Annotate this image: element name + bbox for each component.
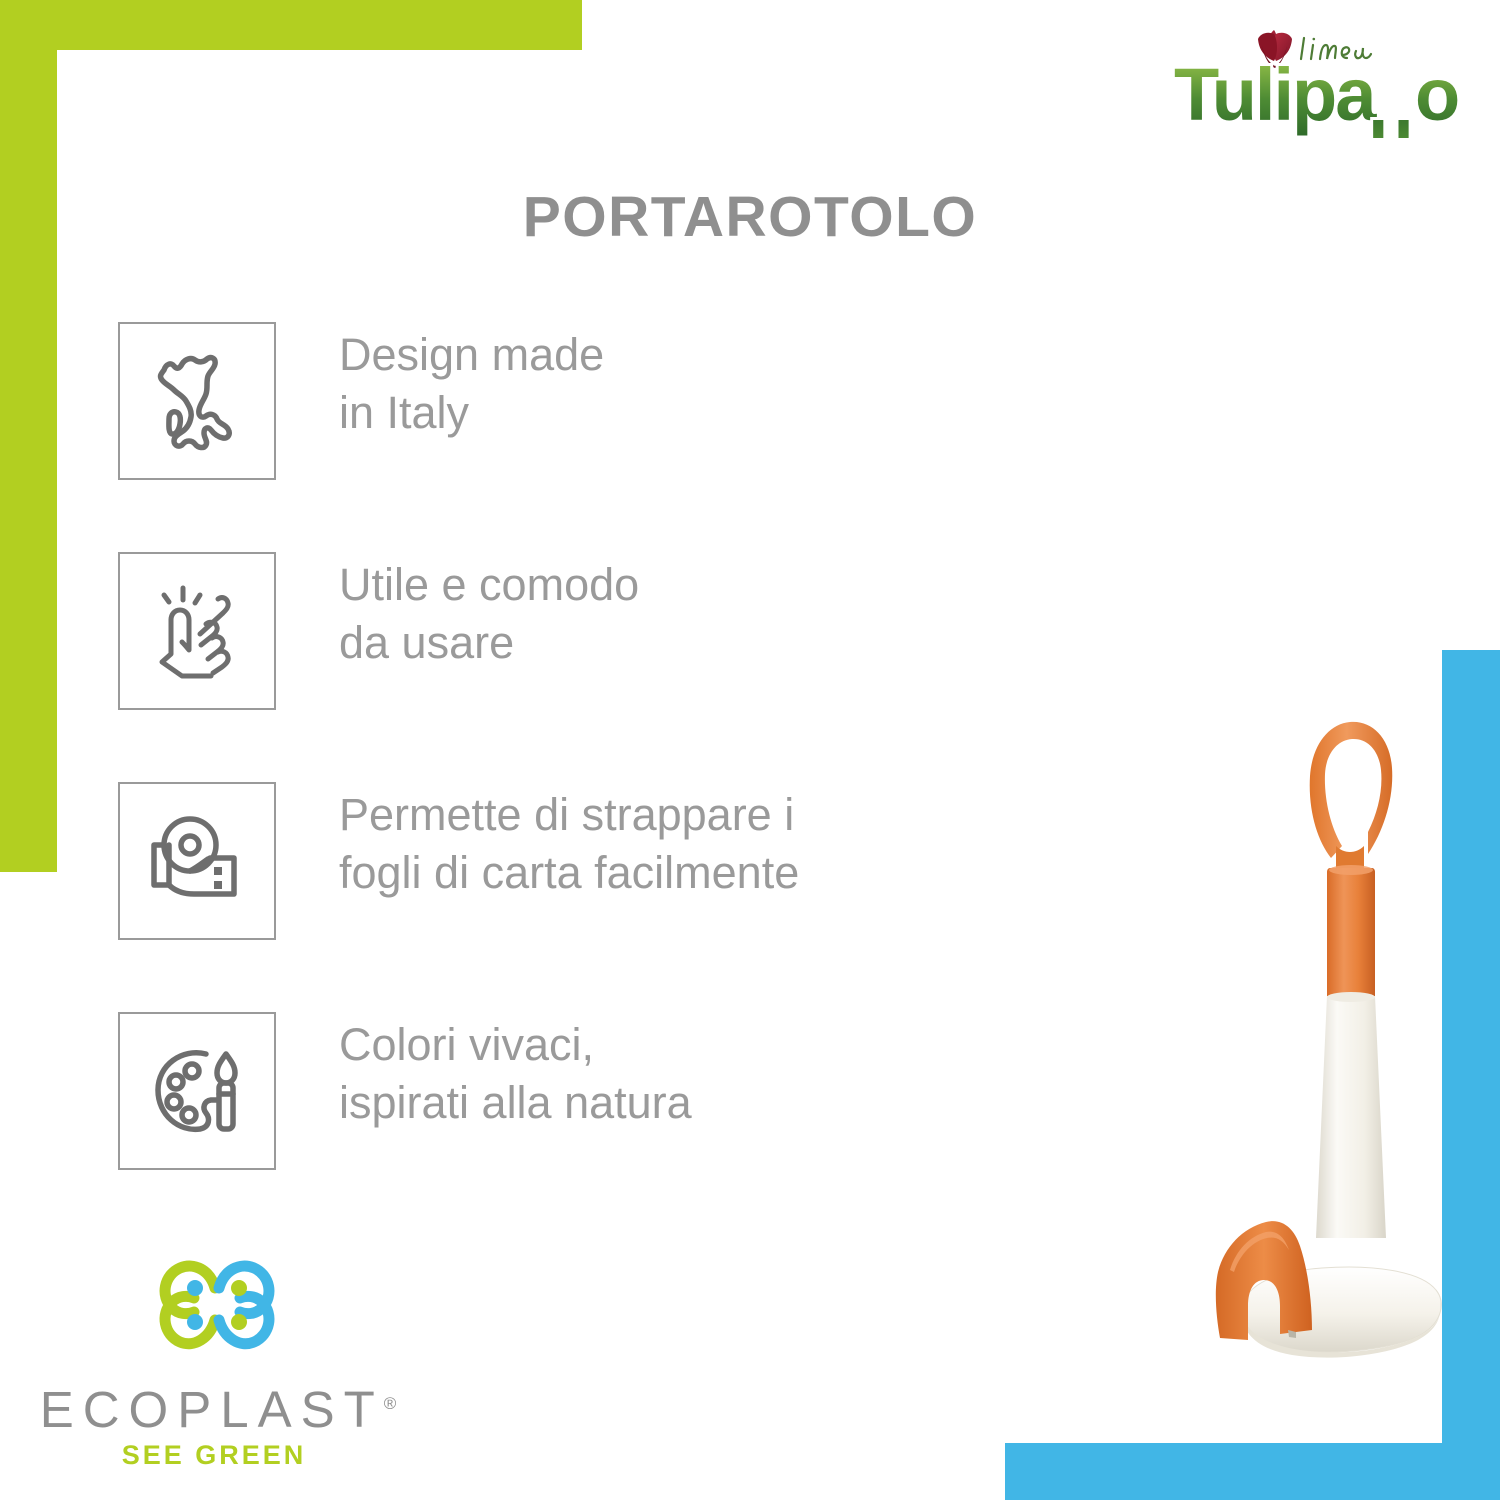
feature-list: Design made in Italy	[118, 322, 1018, 1242]
ecoplast-footer-logo: ECOPLAST® SEE GREEN	[18, 1258, 418, 1483]
ecoplast-tagline: SEE GREEN	[18, 1440, 410, 1471]
registered-mark: ®	[384, 1394, 397, 1413]
page-title: PORTAROTOLO	[0, 184, 1500, 250]
feature-label: Design made in Italy	[339, 322, 1018, 441]
ecoplast-wordmark-text: ECOPLAST	[40, 1381, 384, 1438]
handle-loop	[1310, 722, 1393, 858]
infographic-page: Tulipa n o PORTAROTOLO Design made in It…	[0, 0, 1500, 1500]
tulipano-brand-logo: Tulipa n o	[1170, 28, 1470, 138]
italy-map-icon	[118, 322, 276, 480]
feature-item-design-made-in-italy: Design made in Italy	[118, 322, 1018, 552]
feature-item-easy-to-use: Utile e comodo da usare	[118, 552, 1018, 782]
blue-bottom-accent-bar	[1005, 1443, 1500, 1500]
svg-text:n: n	[1368, 104, 1413, 138]
svg-text:o: o	[1415, 53, 1460, 136]
product-image-paper-towel-holder	[1150, 640, 1500, 1450]
feature-label: Permette di strappare i fogli di carta f…	[339, 782, 1018, 901]
pole-white	[1316, 996, 1386, 1238]
green-top-accent-bar	[0, 0, 582, 50]
svg-text:Tulipa: Tulipa	[1174, 53, 1377, 136]
handle-shaft-orange	[1327, 868, 1375, 998]
feature-item-vivid-colors: Colori vivaci, ispirati alla natura	[118, 1012, 1018, 1242]
pointing-hand-click-icon	[118, 552, 276, 710]
paper-roll-icon	[118, 782, 276, 940]
ecoplast-wordmark: ECOPLAST®	[18, 1380, 418, 1439]
butterfly-mark-icon	[144, 1258, 290, 1376]
feature-label: Colori vivaci, ispirati alla natura	[339, 1012, 1018, 1131]
feature-item-easy-tear: Permette di strappare i fogli di carta f…	[118, 782, 1018, 1012]
feature-label: Utile e comodo da usare	[339, 552, 1018, 671]
palette-brush-icon	[118, 1012, 276, 1170]
green-left-accent-bar	[0, 0, 57, 872]
